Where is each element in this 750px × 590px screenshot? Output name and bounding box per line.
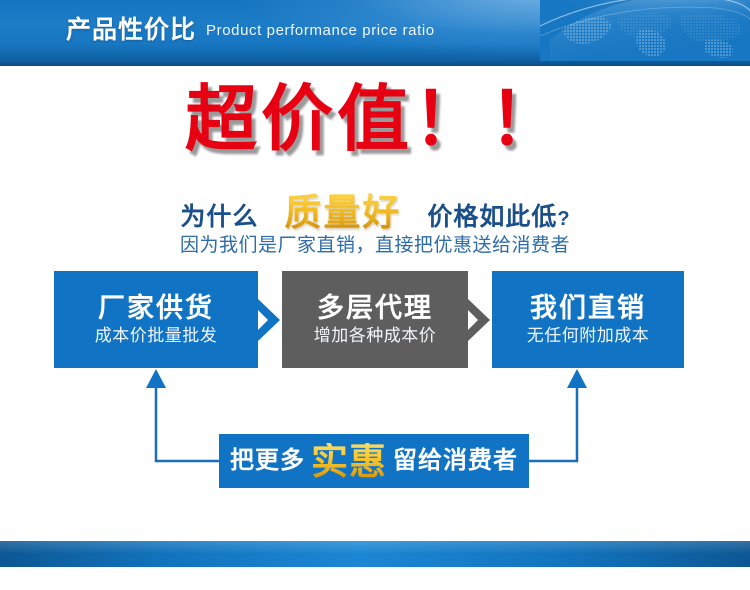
question-highlight-wrap: 质量好: [284, 182, 401, 236]
question-mark: ?: [557, 208, 569, 230]
bottom-banner: 把更多 实惠 留给消费者: [219, 434, 529, 488]
question-part2-group: 价格如此低?: [427, 197, 569, 233]
header-title-group: 产品性价比 Product performance price ratio: [66, 0, 435, 61]
flow-box-direct-sales: 我们直销 无任何附加成本: [492, 271, 684, 368]
question-line: 为什么 质量好 价格如此低?: [0, 182, 750, 236]
flow-box-2-title: 多层代理: [317, 295, 433, 322]
flow-box-2-subtitle: 增加各种成本价: [314, 327, 437, 344]
header-banner: 产品性价比 Product performance price ratio: [0, 0, 750, 61]
flow-box-1-subtitle: 成本价批量批发: [95, 327, 218, 344]
question-part1: 为什么: [180, 197, 258, 233]
bottom-banner-highlight: 实惠: [308, 443, 390, 480]
bottom-banner-prefix: 把更多: [230, 449, 305, 473]
header-title-cn: 产品性价比: [66, 18, 196, 43]
bottom-banner-suffix: 留给消费者: [393, 449, 518, 473]
header-title-en: Product performance price ratio: [206, 23, 435, 39]
flow-box-3-subtitle: 无任何附加成本: [527, 327, 650, 344]
promo-page: 产品性价比 Product performance price ratio 超价…: [0, 0, 750, 590]
arrow-up-icon-left: [146, 369, 219, 461]
header-underline: [0, 61, 750, 66]
flow-box-1-title: 厂家供货: [98, 295, 214, 322]
question-part2: 价格如此低: [427, 203, 557, 231]
question-highlight: 质量好: [284, 192, 401, 233]
footer-band: [0, 541, 750, 567]
flow-box-manufacturer: 厂家供货 成本价批量批发: [54, 271, 258, 368]
footer-gloss: [0, 541, 750, 553]
flow-box-agents: 多层代理 增加各种成本价: [282, 271, 468, 368]
arrow-up-icon-right: [529, 369, 587, 461]
chevron-right-icon-1: [256, 299, 282, 341]
explanation-text: 因为我们是厂家直销，直接把优惠送给消费者: [0, 230, 750, 257]
flow-box-3-title: 我们直销: [530, 295, 646, 322]
chevron-right-icon-2: [466, 299, 492, 341]
world-map-globe-icon: [540, 0, 750, 61]
main-headline: 超价值！！: [0, 84, 750, 156]
